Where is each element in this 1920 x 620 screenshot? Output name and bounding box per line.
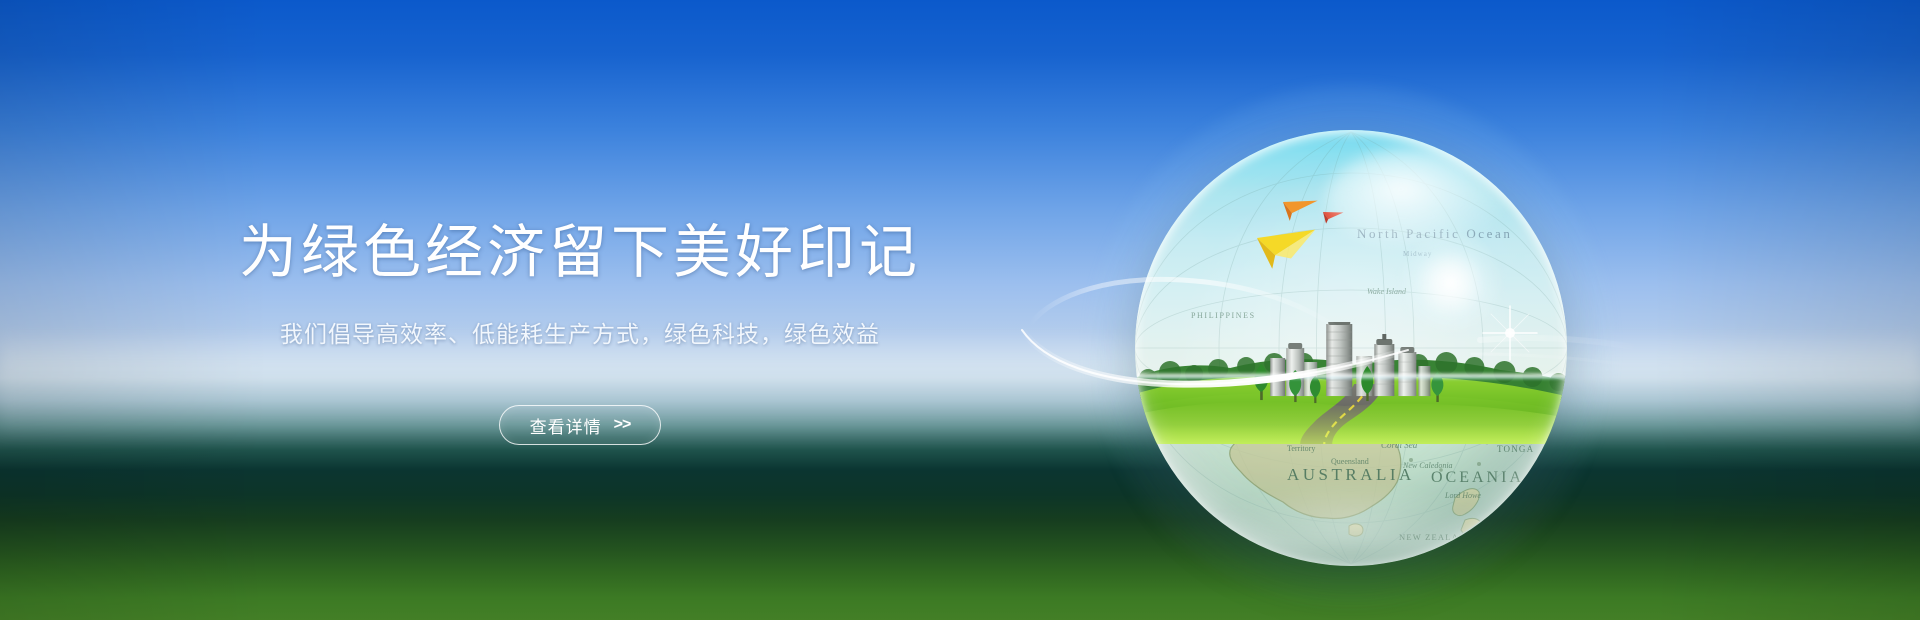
svg-text:Queensland: Queensland: [1331, 457, 1369, 466]
glass-highlight-bottom: [1204, 483, 1498, 553]
eco-globe-illustration: AUSTRALIA OCEANIA TUVALU VANUATU FIJI IS…: [1135, 130, 1567, 566]
glass-highlight-top: [1325, 147, 1515, 252]
svg-text:TONGA: TONGA: [1497, 444, 1534, 454]
svg-text:TUVALU: TUVALU: [1461, 412, 1506, 422]
svg-text:PAPUA: PAPUA: [1311, 395, 1343, 404]
svg-text:FIJI IS.: FIJI IS.: [1473, 432, 1511, 442]
glass-sphere: AUSTRALIA OCEANIA TUVALU VANUATU FIJI IS…: [1135, 130, 1567, 566]
sun-flare: [1394, 235, 1506, 331]
svg-text:AUSTRALIA: AUSTRALIA: [1287, 465, 1415, 484]
svg-text:OCEANIA: OCEANIA: [1431, 469, 1524, 486]
svg-text:New Caledonia: New Caledonia: [1402, 461, 1453, 470]
svg-text:NEW GUINEA: NEW GUINEA: [1311, 404, 1374, 413]
svg-text:VANUATU: VANUATU: [1421, 428, 1473, 438]
svg-text:SOLOMON: SOLOMON: [1371, 395, 1418, 404]
edge-vignette: [0, 0, 1920, 620]
cta-container: 查看详情 >>: [0, 405, 1160, 445]
hero-banner: AUSTRALIA OCEANIA TUVALU VANUATU FIJI IS…: [0, 0, 1920, 620]
svg-text:SAMOA: SAMOA: [1513, 418, 1552, 428]
banner-subtitle: 我们倡导高效率、低能耗生产方式，绿色科技，绿色效益: [0, 323, 1160, 346]
page-title: 为绿色经济留下美好印记: [0, 224, 1160, 282]
svg-text:Territory: Territory: [1287, 444, 1315, 453]
svg-text:Coral Sea: Coral Sea: [1381, 440, 1418, 450]
svg-text:ISLANDS: ISLANDS: [1371, 404, 1412, 413]
svg-text:INDONESIA: INDONESIA: [1205, 392, 1276, 402]
glass-waterline: [1135, 372, 1567, 380]
chevron-right-icon: >>: [614, 416, 631, 434]
view-details-label: 查看详情: [530, 413, 602, 438]
svg-text:Northern: Northern: [1287, 435, 1316, 444]
view-details-button[interactable]: 查看详情 >>: [499, 405, 662, 445]
